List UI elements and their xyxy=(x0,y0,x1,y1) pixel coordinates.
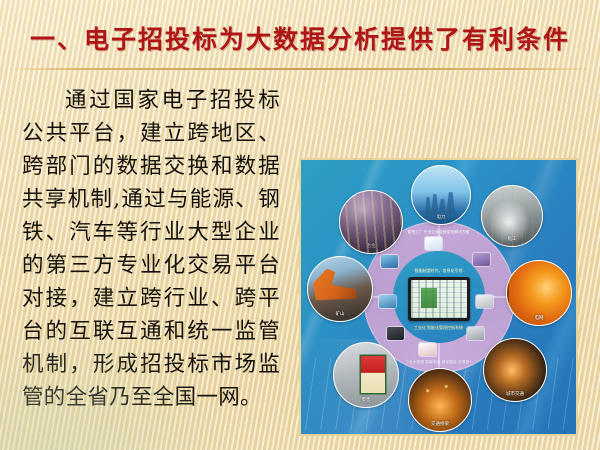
thumbnail-steel-mill: 冶金 xyxy=(339,190,403,254)
thumbnail-caption: 零售 xyxy=(334,397,398,403)
thumbnail-highway-interchange: 城市交通 xyxy=(483,338,547,402)
device-label-top: 智能制造时代，信息化引领 xyxy=(408,268,470,274)
thumbnail-caption: 化工 xyxy=(482,236,542,242)
chip-factory-icon xyxy=(379,295,396,308)
chip-network-icon xyxy=(381,255,398,268)
chip-logo-icon xyxy=(419,343,436,356)
device-label-bottom: 工业化 智能化管理控制系统 xyxy=(408,325,470,331)
infographic-image: 智慧工厂 行业云综合信息化解决方案 工业大数据 智能制造 两化融合 互联网+ 智… xyxy=(299,158,578,436)
thumbnail-mining-excavator: 矿山 xyxy=(307,256,373,322)
slide-canvas: 一、电子招投标为大数据分析提供了有利条件 通过国家电子招投标公共平台，建立跨地区… xyxy=(0,0,600,450)
chip-tablet-icon xyxy=(476,295,493,308)
chip-server-icon xyxy=(473,253,490,266)
thumbnail-caption: 交通桥梁 xyxy=(409,421,471,427)
slide-title-text: 一、电子招投标为大数据分析提供了有利条件 xyxy=(30,26,570,54)
thumbnail-chemical-plant: 化工 xyxy=(481,185,543,247)
slide-title: 一、电子招投标为大数据分析提供了有利条件 xyxy=(0,26,600,54)
control-panel-device: 智能制造时代，信息化引领 工业化 智能化管理控制系统 xyxy=(408,277,470,321)
device-screen xyxy=(411,280,467,318)
chip-cloud-icon xyxy=(425,237,442,250)
thumbnail-vending-kiosk: 零售 xyxy=(333,342,399,408)
title-divider xyxy=(14,68,586,70)
thumbnail-caption: 电力 xyxy=(412,214,470,220)
thumbnail-power-plant: 电力 xyxy=(411,165,471,225)
thumbnail-caption: 电网 xyxy=(507,315,571,321)
thumbnail-caption: 冶金 xyxy=(340,243,402,249)
thumbnail-caption: 矿山 xyxy=(308,311,372,317)
thumbnail-caption: 城市交通 xyxy=(484,391,546,397)
thumbnail-power-tower: 电网 xyxy=(506,260,572,326)
chip-worker-icon xyxy=(387,327,404,340)
thumbnail-night-bridge: 交通桥梁 xyxy=(408,368,472,432)
